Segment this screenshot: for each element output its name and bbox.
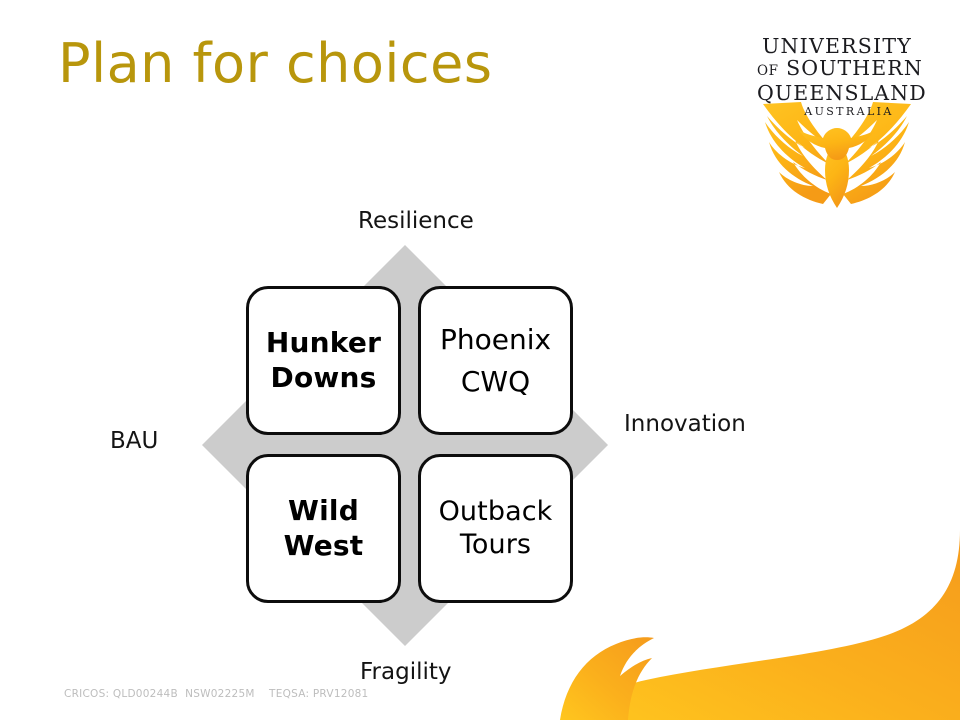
- flame-swoosh-icon: [560, 530, 960, 720]
- usq-logo: UNIVERSITY OF SOUTHERN QUEENSLAND AUSTRA…: [757, 36, 917, 211]
- quadrant-label-line2: West: [284, 529, 364, 562]
- quadrant-label-line1: Hunker: [266, 326, 381, 359]
- quadrant-label-line1: Phoenix: [440, 323, 551, 356]
- logo-line-of-southern: OF SOUTHERN: [757, 57, 917, 82]
- axis-label-innovation: Innovation: [624, 411, 746, 437]
- quadrant-label: PhoenixCWQ: [440, 319, 551, 403]
- quadrant-outback-tours[interactable]: OutbackTours: [418, 454, 573, 603]
- footer-cricos-text: CRICOS: QLD00244B NSW02225M TEQSA: PRV12…: [64, 688, 369, 700]
- quadrant-label: WildWest: [284, 494, 364, 562]
- quadrant-label: HunkerDowns: [266, 326, 381, 394]
- logo-word-southern: SOUTHERN: [786, 56, 923, 80]
- quadrant-diagram: HunkerDowns PhoenixCWQ WildWest OutbackT…: [200, 243, 610, 648]
- logo-line-queensland: QUEENSLAND: [757, 82, 917, 104]
- logo-wordmark: UNIVERSITY OF SOUTHERN QUEENSLAND AUSTRA…: [757, 36, 917, 120]
- quadrant-hunker-downs[interactable]: HunkerDowns: [246, 286, 401, 435]
- quadrant-label-line2: Downs: [271, 361, 377, 394]
- logo-line-university: UNIVERSITY: [757, 36, 917, 57]
- slide-canvas: Plan for choices UNIVERSITY OF SOUTHERN …: [0, 0, 960, 720]
- quadrant-wild-west[interactable]: WildWest: [246, 454, 401, 603]
- axis-label-bau: BAU: [110, 428, 158, 454]
- quadrant-label-line2: Tours: [460, 529, 531, 560]
- axis-label-resilience: Resilience: [358, 208, 474, 234]
- page-title: Plan for choices: [58, 34, 492, 93]
- logo-line-australia: AUSTRALIA: [757, 104, 917, 120]
- quadrant-label-line1: Outback: [439, 496, 553, 527]
- logo-word-of: OF: [757, 63, 778, 79]
- quadrant-label-line1: Wild: [288, 494, 359, 527]
- quadrant-label-line2: CWQ: [461, 365, 530, 398]
- axis-label-fragility: Fragility: [360, 659, 452, 685]
- quadrant-phoenix-cwq[interactable]: PhoenixCWQ: [418, 286, 573, 435]
- quadrant-label: OutbackTours: [439, 496, 553, 562]
